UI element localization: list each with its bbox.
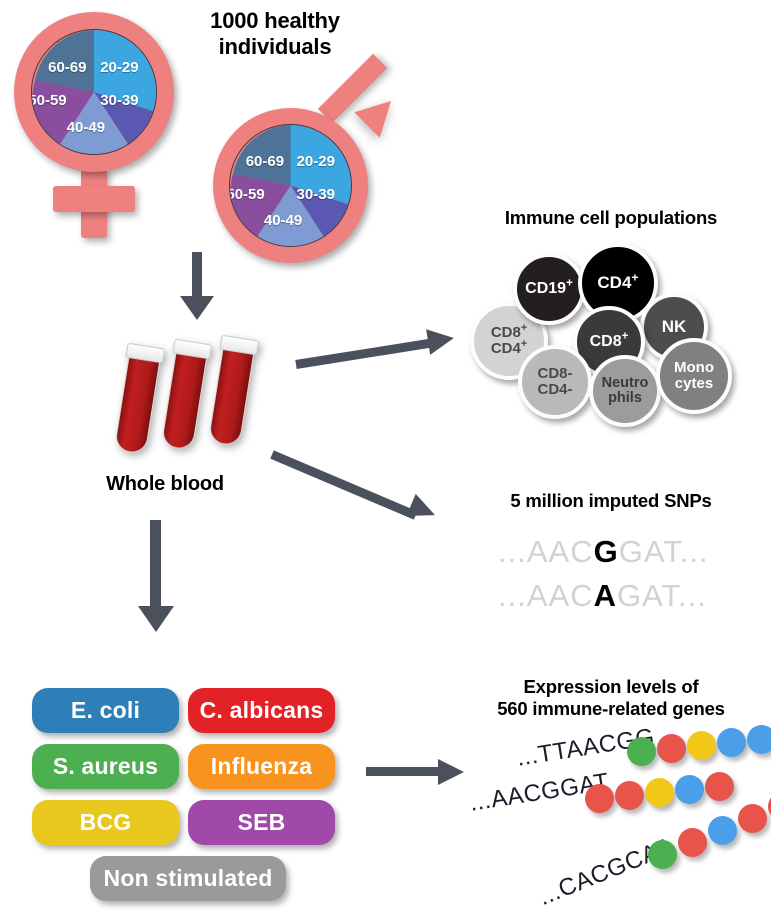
cell-label-line1: CD8: [491, 324, 521, 341]
cell-sup: +: [631, 270, 638, 284]
stimulus-influenza[interactable]: Influenza: [188, 744, 335, 789]
female-stem-horizontal: [53, 186, 135, 212]
cell-label: CD19: [525, 280, 566, 297]
immune-cell-cd19pos: CD19+: [513, 253, 585, 325]
female-age-pie-chart: 20-29 30-39 40-49 50-59 60-69: [31, 29, 157, 155]
cell-label-line2: cytes: [675, 375, 713, 392]
snp-sequence-row-1: ...AACGGAT...: [498, 534, 709, 570]
snp-variant-1: G: [594, 534, 619, 569]
cell-sup: +: [566, 277, 573, 289]
strand1-bead-2: [657, 734, 686, 763]
snp-prefix-1: ...AAC: [498, 534, 594, 569]
snp-suffix-1: GAT...: [619, 534, 709, 569]
stimulus-label: Influenza: [211, 753, 312, 780]
female-age-label-30-39: 30-39: [100, 92, 138, 109]
blood-tube-body: [208, 347, 255, 447]
cell-label-line1: CD8-: [537, 365, 572, 382]
expression-section-title: Expression levels of 560 immune-related …: [455, 676, 767, 720]
diagram-canvas: 1000 healthy individuals 20-29 30-39 40-…: [0, 0, 771, 922]
stimulus-label: SEB: [238, 809, 286, 836]
cell-sup2: +: [521, 338, 527, 350]
male-age-pie-chart: 20-29 30-39 40-49 50-59 60-69: [229, 124, 352, 247]
stimulus-seb[interactable]: SEB: [188, 800, 335, 845]
stimulus-label: BCG: [80, 809, 132, 836]
cell-label: CD4: [597, 273, 631, 292]
immune-cell-monocytes: Mono cytes: [656, 338, 732, 414]
strand3-bead-2: [678, 828, 707, 857]
blood-tube-body: [161, 351, 208, 451]
stimulus-non-stimulated[interactable]: Non stimulated: [90, 856, 286, 901]
blood-tube-body: [114, 355, 161, 455]
snp-suffix-2: GAT...: [617, 578, 707, 613]
blood-tube-1: [113, 343, 163, 455]
strand2-bead-2: [615, 781, 644, 810]
immune-section-title: Immune cell populations: [455, 207, 767, 229]
female-age-label-40-49: 40-49: [67, 119, 105, 136]
cell-label-line1: Neutro: [602, 375, 649, 391]
snp-section-title: 5 million imputed SNPs: [455, 490, 767, 512]
strand2-bead-5: [705, 772, 734, 801]
cell-label-line2: CD4: [491, 340, 521, 357]
strand1-bead-5: [747, 725, 771, 754]
female-age-label-50-59: 50-59: [31, 92, 67, 109]
strand1-bead-1: [627, 737, 656, 766]
stimulus-s-aureus[interactable]: S. aureus: [32, 744, 179, 789]
stimulus-label: S. aureus: [53, 753, 158, 780]
strand2-bead-4: [675, 775, 704, 804]
stimulus-label: E. coli: [71, 697, 140, 724]
female-symbol: 20-29 30-39 40-49 50-59 60-69: [8, 8, 188, 238]
strand2-bead-3: [645, 778, 674, 807]
strand1-bead-4: [717, 728, 746, 757]
female-age-label-20-29: 20-29: [100, 59, 138, 76]
page-title-line1: 1000 healthy: [160, 8, 390, 34]
cell-label: CD8: [590, 333, 622, 350]
expression-title-line1: Expression levels of: [455, 676, 767, 698]
page-title: 1000 healthy individuals: [160, 8, 390, 60]
female-age-label-60-69: 60-69: [48, 59, 86, 76]
whole-blood-label: Whole blood: [70, 473, 260, 497]
cell-label-line1: Mono: [674, 359, 714, 376]
male-age-label-60-69: 60-69: [246, 153, 284, 170]
blood-tube-2: [160, 339, 210, 451]
strand2-bead-1: [585, 784, 614, 813]
stimulus-label: C. albicans: [200, 697, 324, 724]
strand1-bead-3: [687, 731, 716, 760]
cell-label-line2: phils: [608, 390, 642, 406]
page-title-line2: individuals: [160, 34, 390, 60]
cell-label-line2: CD4-: [537, 381, 572, 398]
cell-sup1: +: [521, 322, 527, 334]
male-arrow-head-icon: [354, 88, 403, 137]
male-age-label-40-49: 40-49: [264, 212, 302, 229]
male-age-label-30-39: 30-39: [297, 186, 335, 203]
immune-cell-cd8neg-cd4neg: CD8- CD4-: [518, 345, 592, 419]
male-symbol: 20-29 30-39 40-49 50-59 60-69: [205, 80, 420, 250]
expression-title-line2: 560 immune-related genes: [455, 698, 767, 720]
cell-sup: +: [622, 330, 629, 342]
blood-tube-3: [207, 335, 257, 447]
male-age-label-50-59: 50-59: [229, 186, 265, 203]
stimulus-c-albicans[interactable]: C. albicans: [188, 688, 335, 733]
male-age-label-20-29: 20-29: [297, 153, 335, 170]
cell-label: NK: [662, 318, 687, 336]
stimulus-e-coli[interactable]: E. coli: [32, 688, 179, 733]
snp-prefix-2: ...AAC: [498, 578, 594, 613]
strand3-bead-3: [708, 816, 737, 845]
strand3-bead-1: [648, 840, 677, 869]
stimulus-bcg[interactable]: BCG: [32, 800, 179, 845]
snp-sequence-row-2: ...AACAGAT...: [498, 578, 707, 614]
snp-variant-2: A: [594, 578, 617, 613]
stimulus-label: Non stimulated: [104, 865, 273, 892]
strand3-bead-4: [738, 804, 767, 833]
immune-cell-neutrophils: Neutro phils: [589, 355, 661, 427]
